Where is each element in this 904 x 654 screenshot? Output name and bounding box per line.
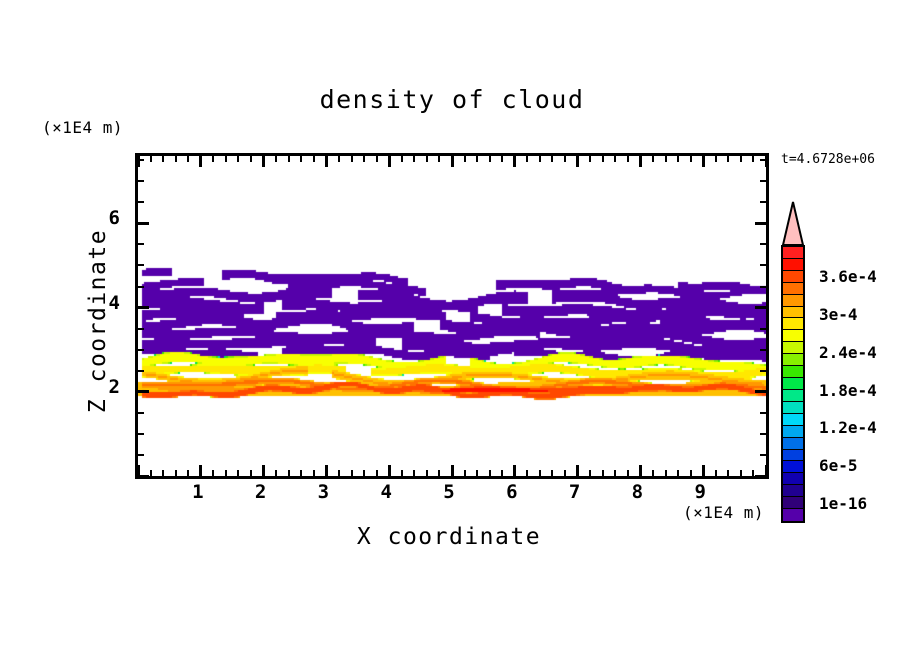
y-axis-minor-tick xyxy=(138,264,144,266)
contour-plot xyxy=(138,156,766,476)
y-axis-units-label: (×1E4 m) xyxy=(42,118,123,137)
x-axis-minor-tick xyxy=(376,156,378,162)
x-axis-minor-tick xyxy=(740,156,742,162)
x-axis-minor-tick xyxy=(288,156,290,162)
x-axis-minor-tick xyxy=(237,470,239,476)
x-axis-minor-tick xyxy=(627,470,629,476)
y-axis-minor-tick xyxy=(138,243,144,245)
x-tick-label: 1 xyxy=(178,481,218,503)
x-axis-units-label: (×1E4 m) xyxy=(683,503,764,522)
x-tick-label: 7 xyxy=(555,481,595,503)
x-axis-minor-tick xyxy=(715,470,717,476)
colorbar-band xyxy=(783,378,803,390)
x-axis-major-tick xyxy=(513,465,516,476)
figure-canvas: density of cloud (×1E4 m) (×1E4 m) t=4.6… xyxy=(0,0,904,654)
plot-area xyxy=(135,153,769,479)
x-axis-major-tick xyxy=(262,465,265,476)
x-axis-minor-tick xyxy=(489,470,491,476)
y-axis-minor-tick xyxy=(760,349,766,351)
x-axis-minor-tick xyxy=(564,470,566,476)
y-axis-minor-tick xyxy=(138,180,144,182)
x-axis-minor-tick xyxy=(175,156,177,162)
colorbar-band xyxy=(783,354,803,366)
x-axis-minor-tick xyxy=(401,156,403,162)
x-axis-minor-tick xyxy=(589,156,591,162)
y-axis-major-tick xyxy=(755,306,766,309)
x-axis-minor-tick xyxy=(300,156,302,162)
y-axis-minor-tick xyxy=(760,370,766,372)
x-axis-minor-tick xyxy=(476,156,478,162)
y-axis-minor-tick xyxy=(760,201,766,203)
y-axis-minor-tick xyxy=(138,286,144,288)
x-axis-minor-tick xyxy=(300,470,302,476)
colorbar-tick-label: 1.2e-4 xyxy=(819,418,877,437)
x-axis-major-tick xyxy=(388,156,391,167)
x-axis-major-tick xyxy=(199,465,202,476)
x-axis-major-tick xyxy=(325,465,328,476)
x-axis-minor-tick xyxy=(250,470,252,476)
x-axis-minor-tick xyxy=(338,470,340,476)
colorbar-tick-label: 6e-5 xyxy=(819,456,858,475)
colorbar-band xyxy=(783,473,803,485)
colorbar-band xyxy=(783,283,803,295)
x-axis-major-tick xyxy=(388,465,391,476)
colorbar-band xyxy=(783,450,803,462)
x-tick-label: 9 xyxy=(680,481,720,503)
x-axis-minor-tick xyxy=(476,470,478,476)
x-axis-minor-tick xyxy=(526,156,528,162)
x-axis-major-tick xyxy=(576,465,579,476)
x-axis-minor-tick xyxy=(363,470,365,476)
x-axis-major-tick xyxy=(576,156,579,167)
x-axis-minor-tick xyxy=(363,156,365,162)
x-axis-minor-tick xyxy=(589,470,591,476)
x-axis-minor-tick xyxy=(501,156,503,162)
colorbar-tick-label: 2.4e-4 xyxy=(819,343,877,362)
x-axis-minor-tick xyxy=(539,470,541,476)
y-axis-minor-tick xyxy=(138,159,144,161)
x-axis-minor-tick xyxy=(162,156,164,162)
x-axis-minor-tick xyxy=(413,470,415,476)
x-axis-minor-tick xyxy=(501,470,503,476)
colorbar-band xyxy=(783,390,803,402)
x-axis-minor-tick xyxy=(665,156,667,162)
colorbar-band xyxy=(783,414,803,426)
x-axis-minor-tick xyxy=(438,156,440,162)
colorbar-band xyxy=(783,307,803,319)
y-axis-minor-tick xyxy=(760,433,766,435)
x-axis-minor-tick xyxy=(564,156,566,162)
y-axis-minor-tick xyxy=(760,243,766,245)
y-axis-minor-tick xyxy=(760,412,766,414)
x-axis-major-tick xyxy=(513,156,516,167)
x-axis-minor-tick xyxy=(212,156,214,162)
x-axis-minor-tick xyxy=(539,156,541,162)
colorbar-band xyxy=(783,497,803,509)
x-axis-major-tick xyxy=(702,156,705,167)
x-axis-minor-tick xyxy=(665,470,667,476)
colorbar-band xyxy=(783,426,803,438)
x-axis-minor-tick xyxy=(338,156,340,162)
x-axis-major-tick xyxy=(262,156,265,167)
colorbar-tick-label: 1e-16 xyxy=(819,494,867,513)
x-axis-minor-tick xyxy=(752,156,754,162)
x-axis-minor-tick xyxy=(602,156,604,162)
x-tick-label: 8 xyxy=(617,481,657,503)
colorbar-band xyxy=(783,438,803,450)
x-axis-minor-tick xyxy=(225,156,227,162)
x-axis-minor-tick xyxy=(551,470,553,476)
colorbar-band xyxy=(783,247,803,259)
x-axis-minor-tick xyxy=(413,156,415,162)
y-axis-minor-tick xyxy=(760,264,766,266)
x-tick-label: 6 xyxy=(492,481,532,503)
x-axis-minor-tick xyxy=(727,470,729,476)
y-axis-major-tick xyxy=(138,475,149,478)
x-axis-minor-tick xyxy=(690,156,692,162)
x-axis-minor-tick xyxy=(426,156,428,162)
colorbar-band xyxy=(783,295,803,307)
x-axis-minor-tick xyxy=(489,156,491,162)
time-annotation: t=4.6728e+06 xyxy=(781,152,875,167)
y-axis-minor-tick xyxy=(138,201,144,203)
x-axis-major-tick xyxy=(199,156,202,167)
colorbar-band xyxy=(783,461,803,473)
x-axis-major-tick xyxy=(639,156,642,167)
x-axis-minor-tick xyxy=(237,156,239,162)
y-axis-minor-tick xyxy=(760,286,766,288)
x-axis-minor-tick xyxy=(464,470,466,476)
x-axis-minor-tick xyxy=(438,470,440,476)
colorbar-band xyxy=(783,342,803,354)
x-axis-minor-tick xyxy=(313,156,315,162)
colorbar-tick-label: 3.6e-4 xyxy=(819,267,877,286)
y-axis-major-tick xyxy=(755,475,766,478)
colorbar-band xyxy=(783,271,803,283)
x-axis-minor-tick xyxy=(212,470,214,476)
colorbar-band xyxy=(783,509,803,521)
x-axis-major-tick xyxy=(137,156,140,167)
y-axis-minor-tick xyxy=(760,328,766,330)
x-axis-minor-tick xyxy=(351,156,353,162)
y-axis-major-tick xyxy=(138,306,149,309)
y-axis-minor-tick xyxy=(138,328,144,330)
y-axis-minor-tick xyxy=(138,370,144,372)
y-axis-major-tick xyxy=(755,222,766,225)
y-axis-major-tick xyxy=(138,222,149,225)
x-axis-minor-tick xyxy=(602,470,604,476)
x-axis-minor-tick xyxy=(740,470,742,476)
x-axis-minor-tick xyxy=(351,470,353,476)
x-tick-label: 3 xyxy=(303,481,343,503)
x-axis-minor-tick xyxy=(677,470,679,476)
y-axis-major-tick xyxy=(138,390,149,393)
x-axis-minor-tick xyxy=(225,470,227,476)
colorbar-tick-label: 1.8e-4 xyxy=(819,381,877,400)
x-tick-label: 4 xyxy=(366,481,406,503)
x-axis-minor-tick xyxy=(175,470,177,476)
y-axis-minor-tick xyxy=(138,454,144,456)
x-axis-minor-tick xyxy=(288,470,290,476)
x-axis-minor-tick xyxy=(715,156,717,162)
x-axis-minor-tick xyxy=(614,470,616,476)
x-axis-minor-tick xyxy=(652,156,654,162)
x-axis-minor-tick xyxy=(150,470,152,476)
x-axis-title: X coordinate xyxy=(135,524,763,550)
x-axis-minor-tick xyxy=(677,156,679,162)
x-axis-major-tick xyxy=(702,465,705,476)
x-axis-minor-tick xyxy=(376,470,378,476)
x-axis-major-tick xyxy=(325,156,328,167)
y-axis-minor-tick xyxy=(138,433,144,435)
colorbar-band xyxy=(783,330,803,342)
x-axis-minor-tick xyxy=(187,470,189,476)
x-axis-major-tick xyxy=(451,465,454,476)
colorbar-bands xyxy=(781,245,805,523)
x-axis-minor-tick xyxy=(401,470,403,476)
colorbar-overflow-arrow-icon xyxy=(781,200,805,246)
colorbar-band xyxy=(783,485,803,497)
x-axis-minor-tick xyxy=(652,470,654,476)
page-title: density of cloud xyxy=(0,85,904,114)
y-axis-minor-tick xyxy=(760,180,766,182)
x-tick-label: 2 xyxy=(241,481,281,503)
x-axis-minor-tick xyxy=(526,470,528,476)
y-axis-minor-tick xyxy=(760,159,766,161)
x-axis-minor-tick xyxy=(150,156,152,162)
y-axis-major-tick xyxy=(755,390,766,393)
x-axis-minor-tick xyxy=(250,156,252,162)
colorbar-band xyxy=(783,318,803,330)
x-axis-minor-tick xyxy=(727,156,729,162)
x-axis-minor-tick xyxy=(275,156,277,162)
x-axis-minor-tick xyxy=(313,470,315,476)
y-axis-title: Z coordinate xyxy=(85,161,111,481)
y-axis-minor-tick xyxy=(760,454,766,456)
x-axis-minor-tick xyxy=(275,470,277,476)
x-axis-minor-tick xyxy=(464,156,466,162)
colorbar-band xyxy=(783,402,803,414)
x-axis-minor-tick xyxy=(627,156,629,162)
x-axis-minor-tick xyxy=(614,156,616,162)
colorbar-band xyxy=(783,366,803,378)
y-axis-minor-tick xyxy=(138,412,144,414)
y-axis-minor-tick xyxy=(138,349,144,351)
colorbar-band xyxy=(783,259,803,271)
x-axis-major-tick xyxy=(451,156,454,167)
x-axis-major-tick xyxy=(639,465,642,476)
x-axis-minor-tick xyxy=(187,156,189,162)
x-tick-label: 5 xyxy=(429,481,469,503)
x-axis-minor-tick xyxy=(426,470,428,476)
x-axis-minor-tick xyxy=(162,470,164,476)
x-axis-major-tick xyxy=(765,156,768,167)
x-axis-minor-tick xyxy=(690,470,692,476)
colorbar-tick-label: 3e-4 xyxy=(819,305,858,324)
x-axis-minor-tick xyxy=(551,156,553,162)
